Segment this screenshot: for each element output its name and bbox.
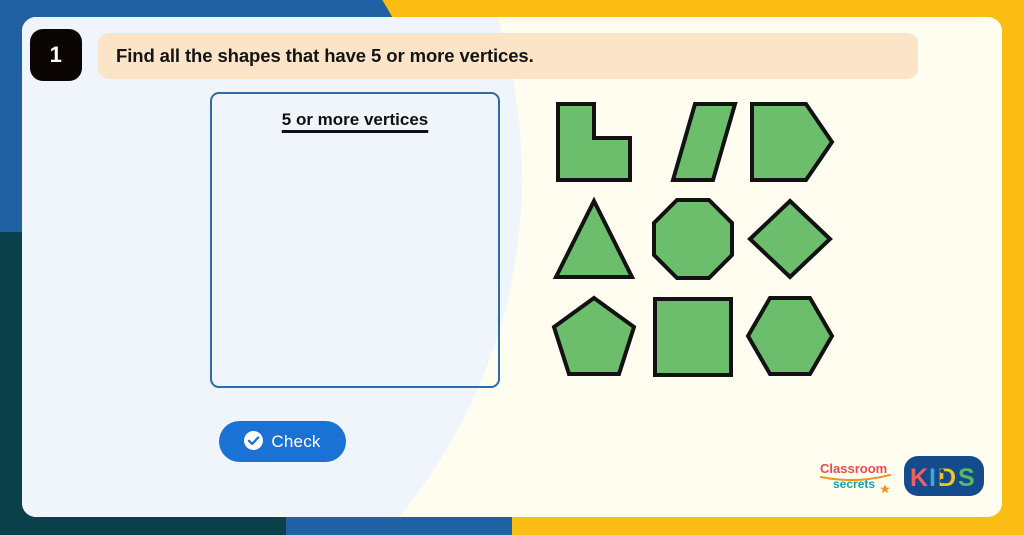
- card-content: 1 Find all the shapes that have 5 or mor…: [22, 17, 1002, 517]
- shape-parallelogram[interactable]: [648, 98, 738, 188]
- drop-zone-title: 5 or more vertices: [212, 110, 498, 130]
- kids-logo: K I D S: [904, 454, 984, 503]
- circle-check-icon: [244, 431, 263, 453]
- logo-group: Classroom secrets K I D S: [818, 454, 984, 503]
- slide-card: 1 Find all the shapes that have 5 or mor…: [22, 17, 1002, 517]
- shape-arrow-pentagon[interactable]: [745, 98, 835, 188]
- drop-zone-drop-area[interactable]: [212, 146, 498, 386]
- shape-diamond-square[interactable]: [745, 195, 835, 285]
- check-button-label: Check: [271, 432, 320, 452]
- svg-text:K: K: [910, 464, 928, 492]
- question-number-badge: 1: [30, 29, 82, 81]
- slide-frame: 1 Find all the shapes that have 5 or mor…: [0, 0, 1024, 535]
- svg-text:I: I: [929, 464, 936, 492]
- shape-octagon[interactable]: [648, 195, 738, 285]
- shape-square[interactable]: [648, 292, 738, 382]
- shapes-palette: [548, 95, 838, 385]
- svg-text:secrets: secrets: [833, 477, 875, 491]
- svg-text:Classroom: Classroom: [820, 461, 887, 476]
- shape-pentagon[interactable]: [551, 292, 641, 382]
- svg-text:D: D: [938, 464, 956, 492]
- question-number: 1: [50, 42, 63, 68]
- shape-l-shape-hexagon[interactable]: [551, 98, 641, 188]
- shape-triangle[interactable]: [551, 195, 641, 285]
- question-banner: Find all the shapes that have 5 or more …: [98, 33, 918, 79]
- svg-text:S: S: [958, 464, 975, 492]
- question-text: Find all the shapes that have 5 or more …: [116, 45, 534, 67]
- classroom-secrets-logo: Classroom secrets: [818, 459, 896, 498]
- shape-hexagon[interactable]: [745, 292, 835, 382]
- drop-zone-5-or-more-vertices[interactable]: 5 or more vertices: [210, 92, 500, 388]
- check-button[interactable]: Check: [219, 421, 346, 462]
